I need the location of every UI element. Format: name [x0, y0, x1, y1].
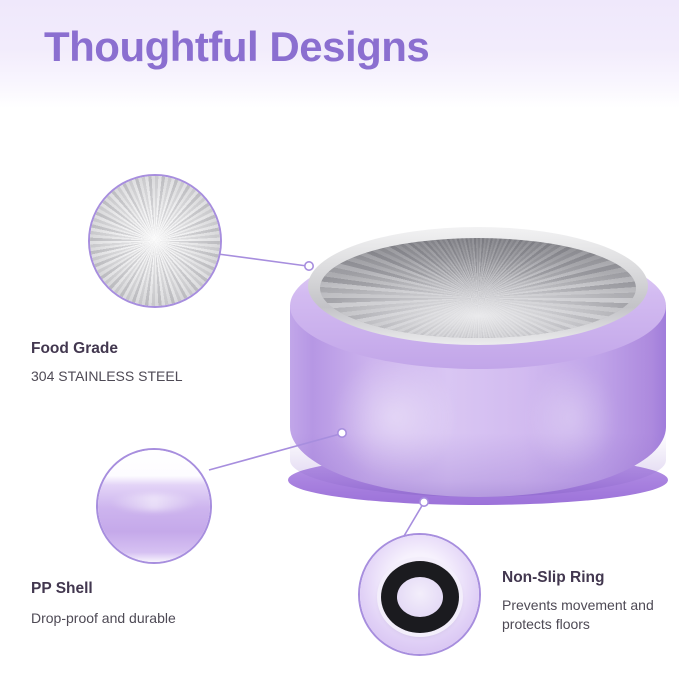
bowl-highlight-left [334, 358, 454, 476]
pp-shell-highlight [110, 494, 198, 510]
rubber-ring [381, 561, 459, 633]
callout-bubble-stainless-steel [88, 174, 222, 308]
callout-title-non-slip-ring: Non-Slip Ring [502, 569, 604, 587]
bowl-interior-shading [320, 238, 636, 338]
bowl-highlight-right [526, 363, 616, 473]
pp-shell-texture [96, 448, 212, 564]
page-title: Thoughtful Designs [44, 23, 429, 71]
stainless-steel-texture [88, 174, 222, 308]
callout-description-food-grade: 304 STAINLESS STEEL [31, 367, 271, 386]
ring-inner-base [397, 577, 443, 617]
callout-description-non-slip-ring: Prevents movement and protects floors [502, 596, 662, 634]
bowl-steel-interior [320, 238, 636, 338]
product-feature-infographic: Thoughtful Designs [0, 0, 679, 679]
callout-title-food-grade: Food Grade [31, 340, 118, 358]
callout-bubble-pp-shell [96, 448, 212, 564]
leader-line-non-slip-ring [404, 504, 423, 536]
callout-title-pp-shell: PP Shell [31, 580, 93, 598]
callout-description-pp-shell: Drop-proof and durable [31, 609, 271, 628]
product-image-pet-bowl [276, 183, 679, 501]
non-slip-ring-closeup [358, 533, 481, 656]
callout-bubble-non-slip-ring [358, 533, 481, 656]
